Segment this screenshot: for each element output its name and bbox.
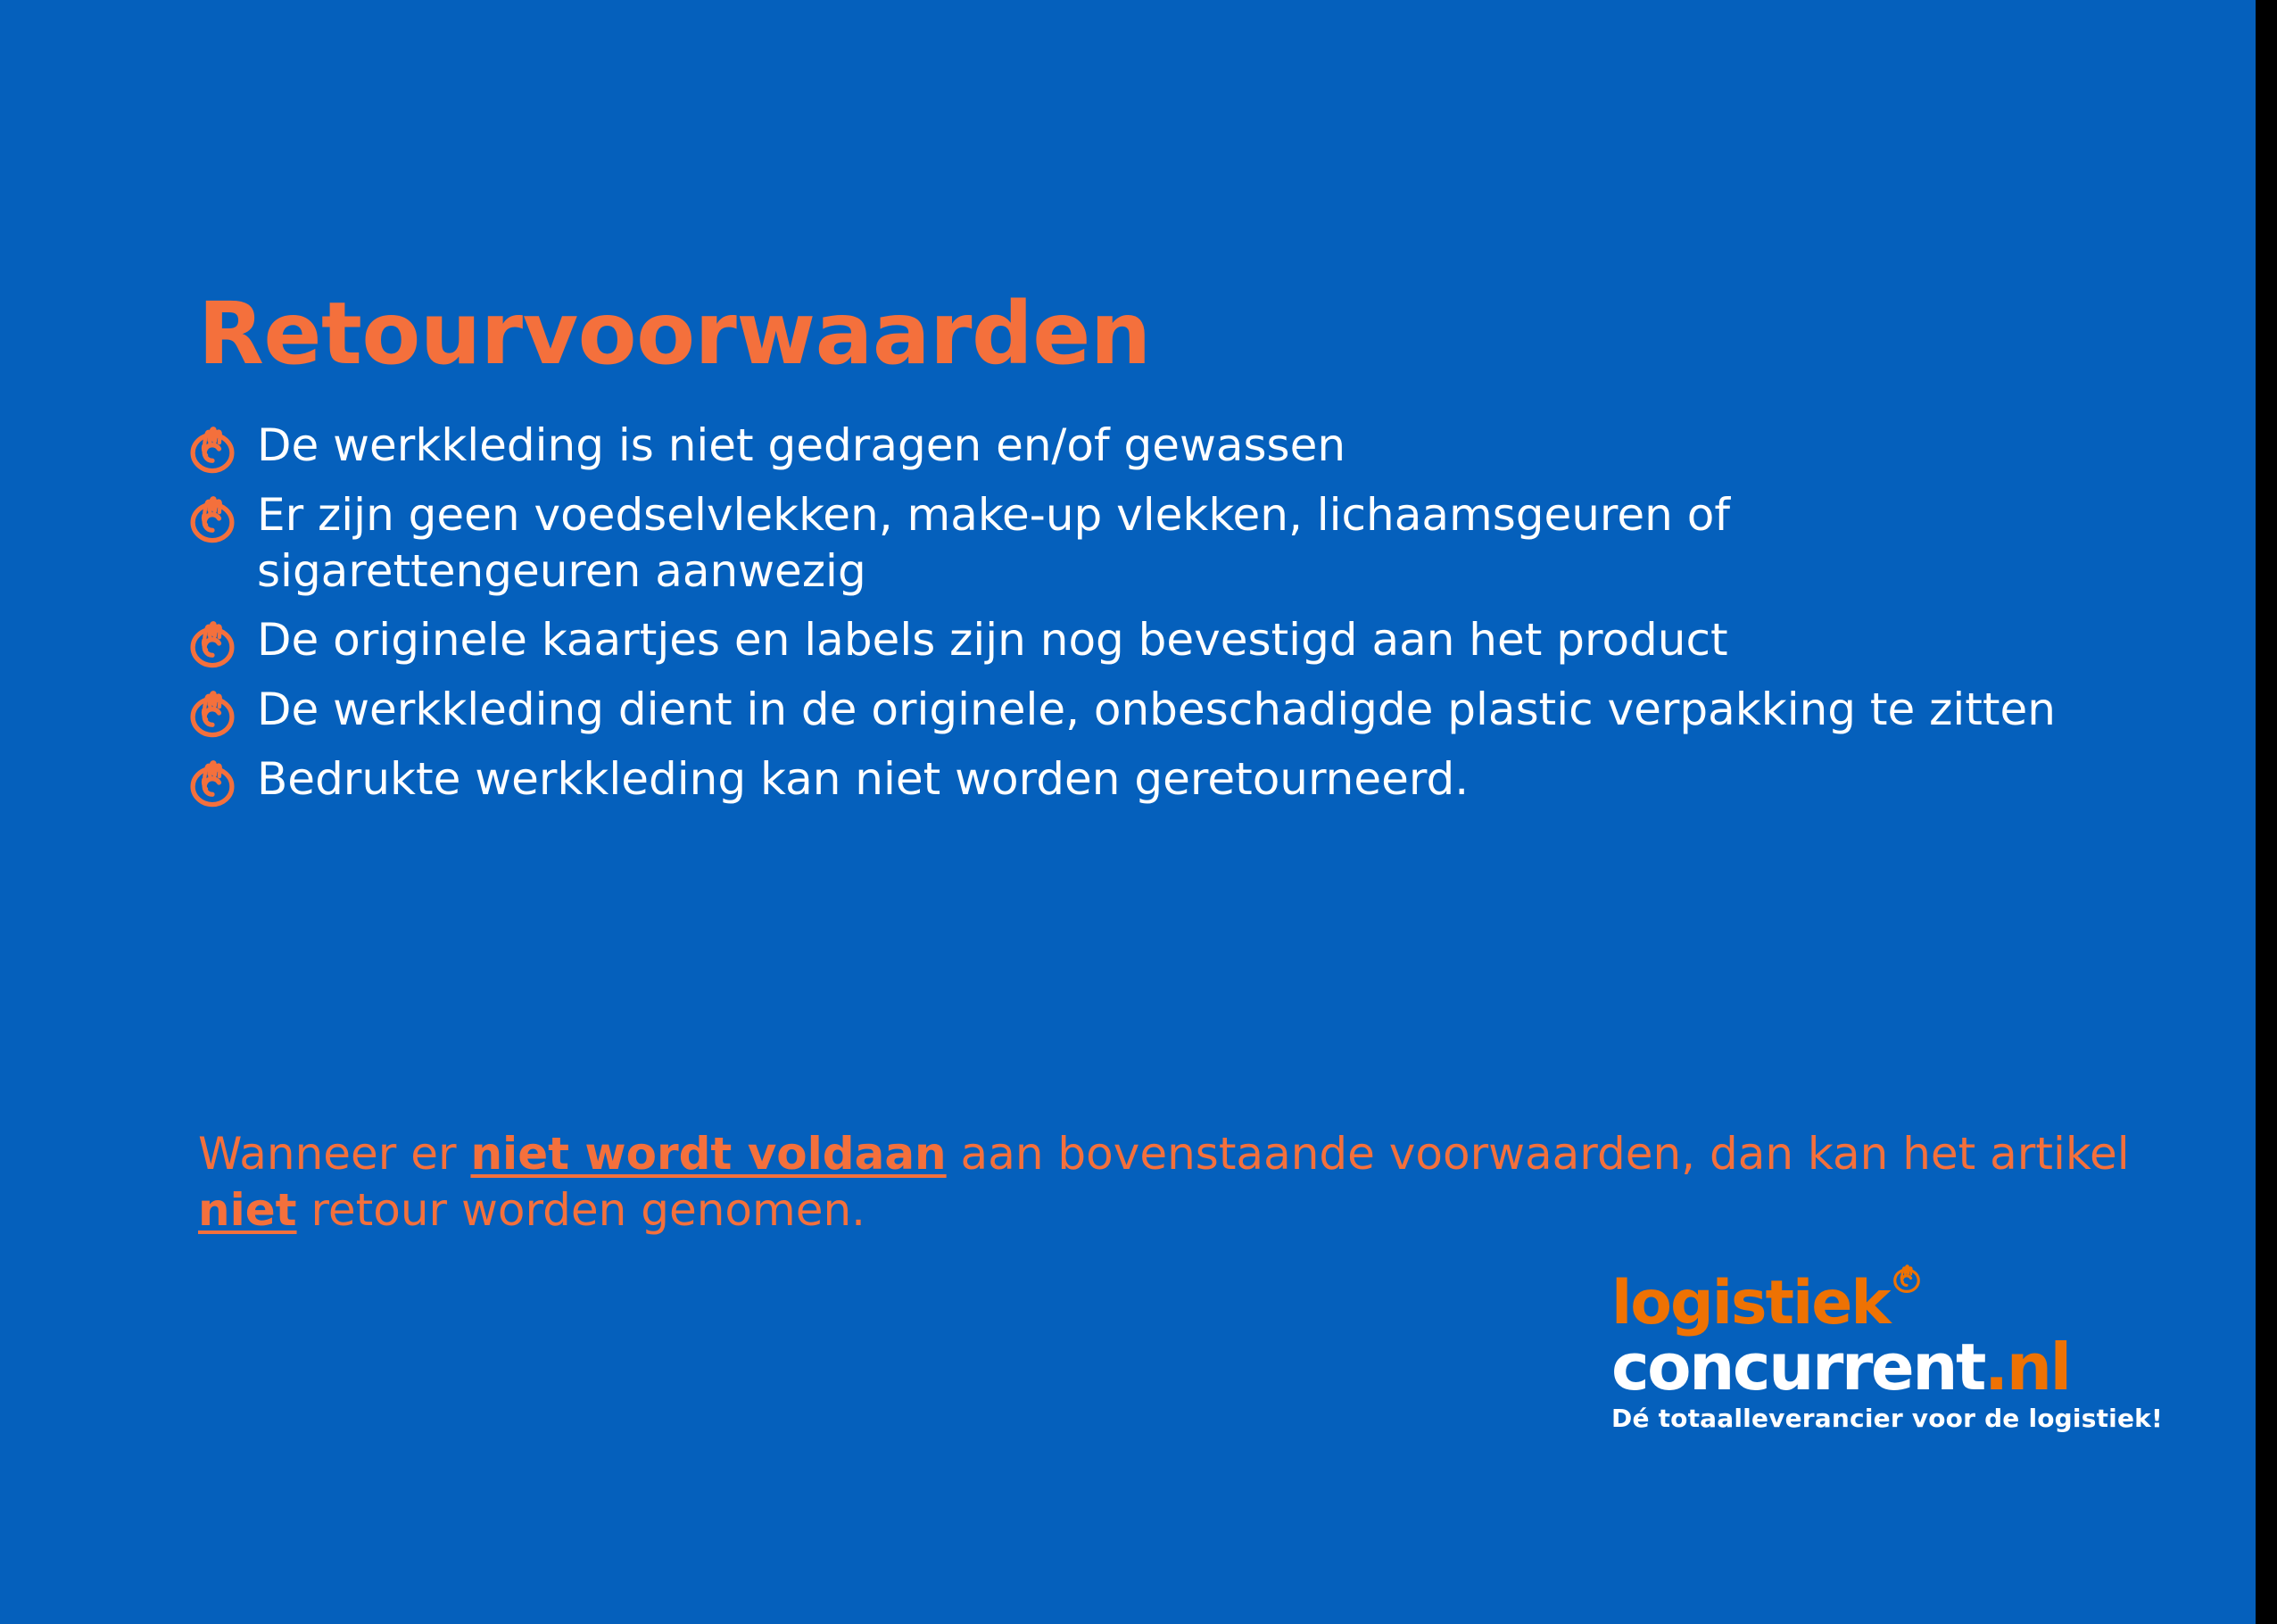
ok-hand-icon [187,689,237,739]
list-item-label: De originele kaartjes en labels zijn nog… [257,612,2132,668]
list-item: De werkkleding dient in de originele, on… [187,682,2132,739]
closing-text-part1: Wanneer er [198,1128,470,1180]
list-item-label: Bedrukte werkkleding kan niet worden ger… [257,751,2132,808]
logo-tld-text: .nl [1984,1330,2070,1404]
closing-paragraph: Wanneer er niet wordt voldaan aan bovens… [198,1126,2152,1239]
ok-hand-icon [187,494,237,544]
list-item-label: De werkkleding is niet gedragen en/of ge… [257,418,2132,474]
logo-concurrent-text: concurrent [1611,1330,1984,1404]
ok-hand-icon [187,619,237,669]
logo-word-logistiek: logistiek [1611,1276,2059,1332]
ok-hand-icon [187,758,237,808]
slide-retourvoorwaarden: Retourvoorwaarden De werkkleding is niet… [0,0,2266,1624]
page-title: Retourvoorwaarden [198,291,1151,377]
ok-hand-icon [187,425,237,475]
logo-logistiek-text: logistiek [1611,1268,1890,1338]
closing-text-part3: retour worden genomen. [297,1184,866,1236]
conditions-list: De werkkleding is niet gedragen en/of ge… [187,418,2132,821]
closing-emphasis-two: niet [198,1184,297,1236]
closing-emphasis-one: niet wordt voldaan [470,1128,946,1180]
logo-tagline: Dé totaalleverancier voor de logistiek! [1611,1405,2059,1433]
slide-right-edge [2256,0,2266,1624]
list-item: Er zijn geen voedselvlekken, make-up vle… [187,487,2132,600]
list-item: De werkkleding is niet gedragen en/of ge… [187,418,2132,475]
list-item-label: Er zijn geen voedselvlekken, make-up vle… [257,487,2059,600]
list-item: De originele kaartjes en labels zijn nog… [187,612,2132,669]
logistiekconcurrent-logo: logistiek concurrent.nl Dé totaalleveran… [1611,1276,2059,1433]
list-item: Bedrukte werkkleding kan niet worden ger… [187,751,2132,808]
list-item-label: De werkkleding dient in de originele, on… [257,682,2059,738]
closing-text-part2: aan bovenstaande voorwaarden, dan kan he… [947,1128,2130,1180]
logo-word-concurrent: concurrent.nl [1611,1336,2059,1399]
ok-hand-icon [1892,1264,1922,1294]
